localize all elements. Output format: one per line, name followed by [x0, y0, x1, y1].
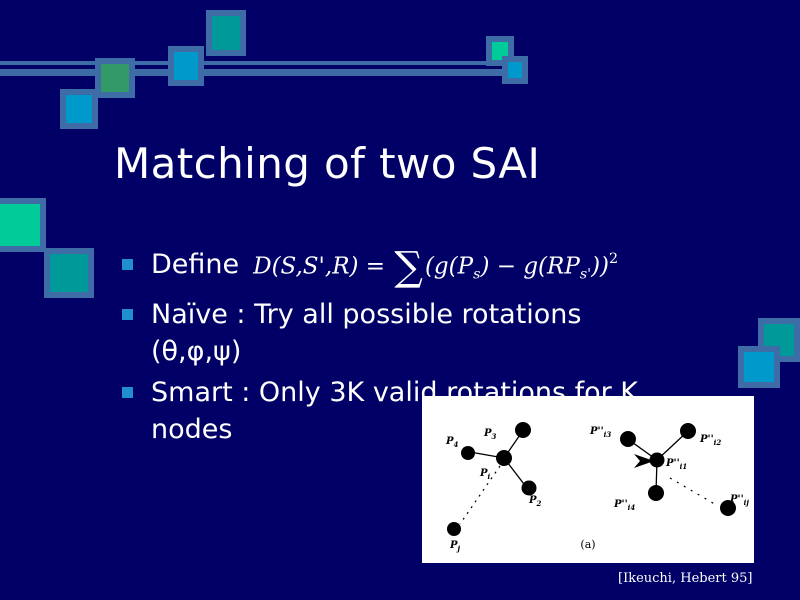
bullet-define-row: DefineD(S,S',R) = ∑(g(Ps) − g(RPs'))2: [151, 246, 618, 292]
page-title: Matching of two SAI: [114, 138, 754, 190]
square-right-blue: [502, 56, 528, 84]
square-band-green: [95, 58, 135, 98]
sai-graph-figure: P4 P3 Pi P2 Pj: [422, 396, 754, 563]
bullet-square-icon: [122, 387, 133, 398]
citation-text: [Ikeuchi, Hebert 95]: [618, 571, 752, 586]
square-left-blue: [60, 89, 98, 129]
bullet-square-icon: [122, 309, 133, 320]
sai-graph-svg: P4 P3 Pi P2 Pj: [422, 396, 754, 563]
list-item: Naïve : Try all possible rotations (θ,φ,…: [122, 296, 762, 370]
list-item: DefineD(S,S',R) = ∑(g(Ps) − g(RPs'))2: [122, 246, 762, 292]
bullet-label-define: Define: [151, 246, 239, 283]
band-line-upper: [0, 61, 505, 65]
slide-canvas: Matching of two SAI DefineD(S,S',R) = ∑(…: [0, 0, 800, 600]
square-top-teal: [206, 10, 246, 56]
bullet-label-naive: Naïve : Try all possible rotations (θ,φ,…: [151, 296, 671, 370]
figure-caption: (a): [580, 538, 595, 551]
square-top-blue: [168, 46, 204, 86]
band-line-right: [176, 69, 506, 76]
square-edge-teal: [44, 248, 94, 298]
distance-formula: D(S,S',R) = ∑(g(Ps) − g(RPs'))2: [253, 242, 618, 292]
square-edge-spring: [0, 198, 46, 252]
bullet-square-icon: [122, 259, 133, 270]
